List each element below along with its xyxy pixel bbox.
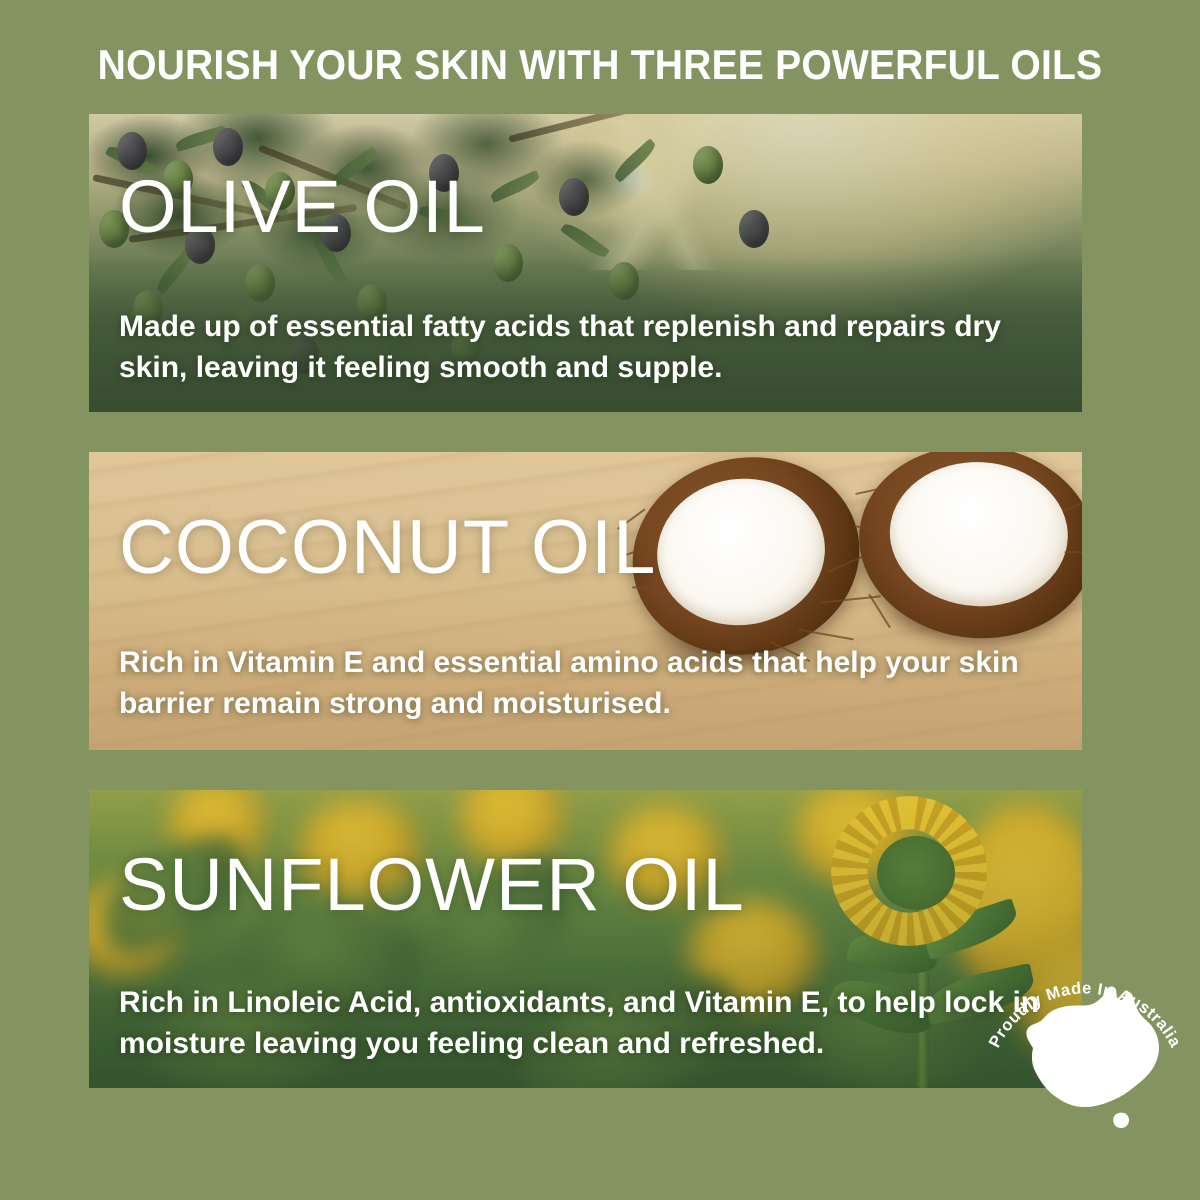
oil-card-coconut[interactable]: COCONUT OIL Rich in Vitamin E and essent… xyxy=(89,452,1082,750)
card-body-sunflower: Rich in Linoleic Acid, antioxidants, and… xyxy=(119,982,1056,1065)
page-title: NOURISH YOUR SKIN WITH THREE POWERFUL OI… xyxy=(42,44,1158,86)
sunflower-card-text: SUNFLOWER OIL Rich in Linoleic Acid, ant… xyxy=(89,790,1082,1088)
card-title-sunflower: SUNFLOWER OIL xyxy=(119,848,745,922)
card-body-olive: Made up of essential fatty acids that re… xyxy=(119,306,1056,389)
olive-card-text: OLIVE OIL Made up of essential fatty aci… xyxy=(89,114,1082,412)
oil-card-sunflower[interactable]: SUNFLOWER OIL Rich in Linoleic Acid, ant… xyxy=(89,790,1082,1088)
coconut-card-text: COCONUT OIL Rich in Vitamin E and essent… xyxy=(89,452,1082,750)
made-in-australia-badge: Proudly Made In Australia xyxy=(985,952,1185,1152)
oil-card-olive[interactable]: OLIVE OIL Made up of essential fatty aci… xyxy=(89,114,1082,412)
card-title-coconut: COCONUT OIL xyxy=(119,510,656,586)
card-title-olive: OLIVE OIL xyxy=(119,170,486,244)
card-body-coconut: Rich in Vitamin E and essential amino ac… xyxy=(119,642,1056,725)
